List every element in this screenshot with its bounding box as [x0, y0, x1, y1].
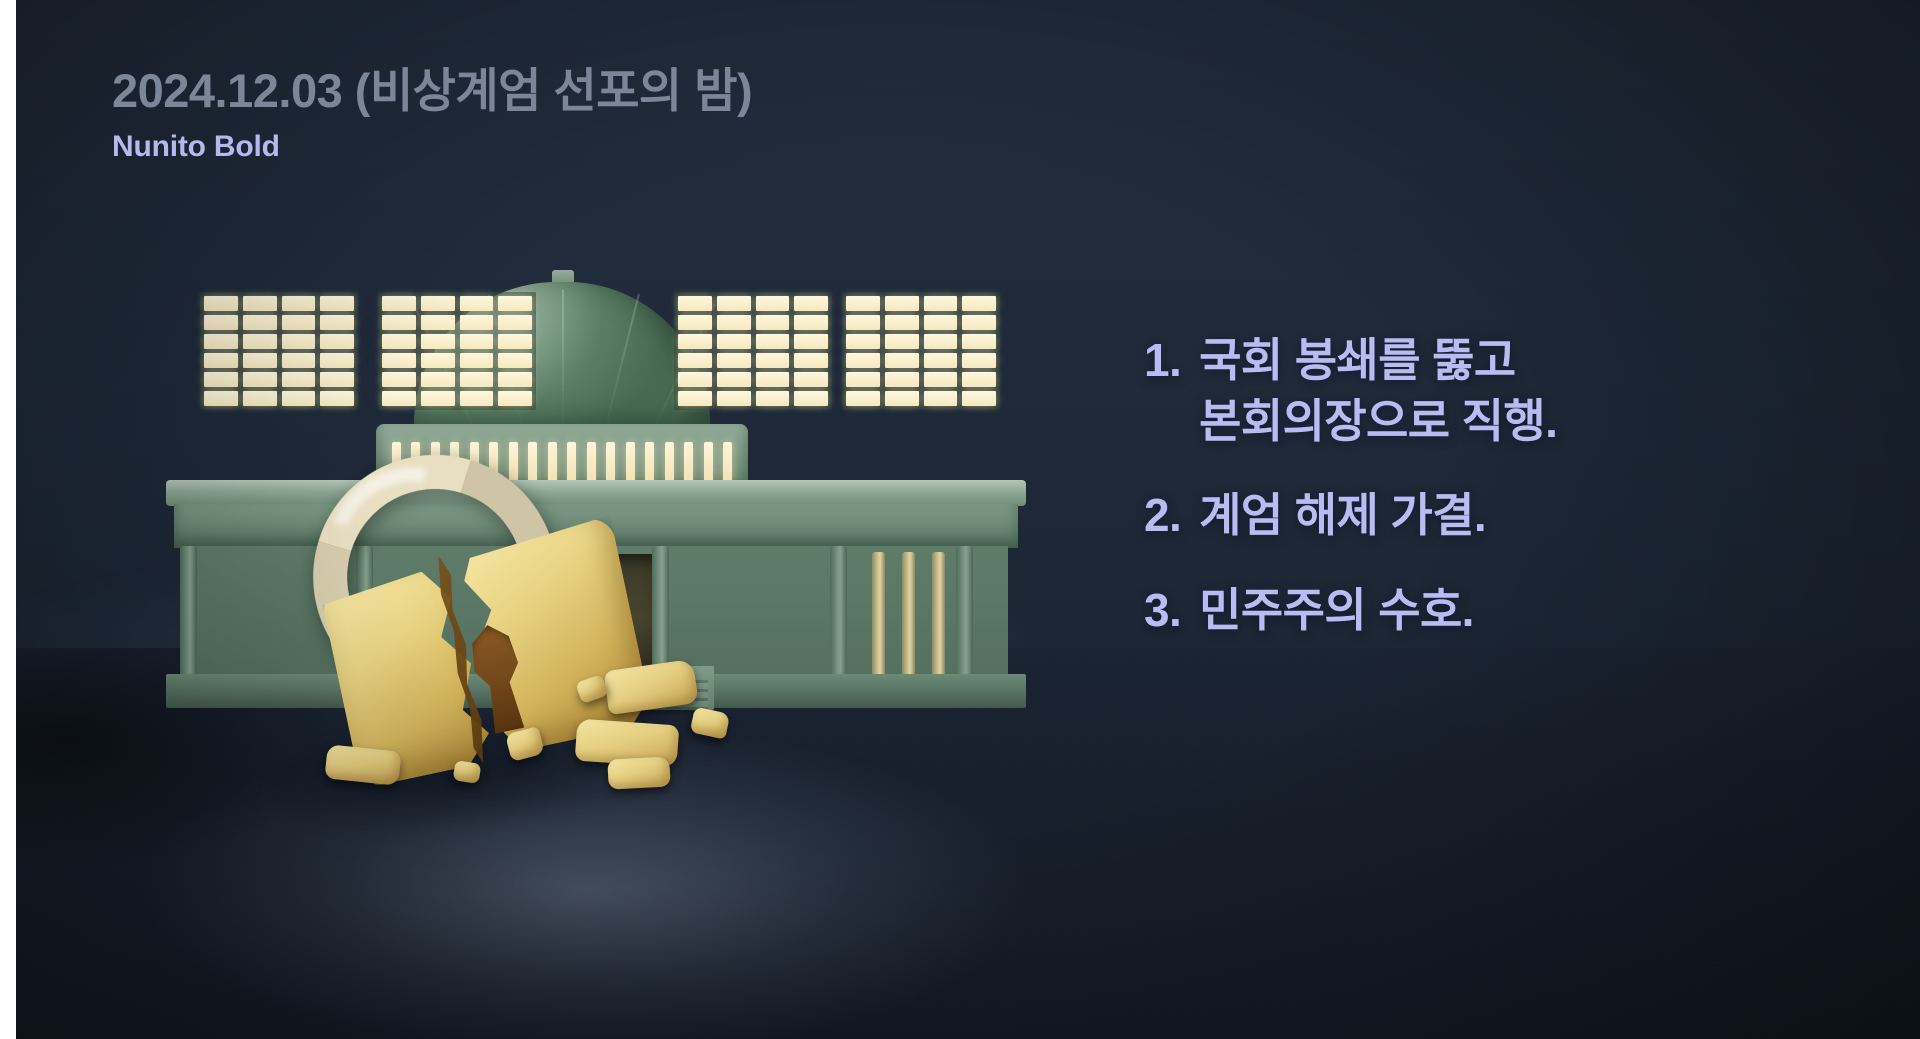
padlock-debris-chunk — [607, 756, 670, 789]
list-item: 3. 민주주의 수호. — [1144, 580, 1884, 641]
column — [956, 546, 973, 678]
numbered-points-list: 1. 국회 봉쇄를 뚫고 본회의장으로 직행. 2. 계엄 해제 가결. 3. … — [1144, 330, 1884, 675]
inner-pillar — [932, 552, 945, 678]
list-item-number: 2. — [1144, 485, 1181, 546]
window-bank-midleft — [378, 292, 536, 410]
list-item-number: 3. — [1144, 580, 1181, 641]
page-title: 2024.12.03 (비상계엄 선포의 밤) — [112, 62, 752, 119]
column — [180, 546, 197, 678]
padlock-debris-chunk — [453, 760, 482, 784]
list-item-text: 계엄 해제 가결. — [1199, 485, 1884, 546]
list-item: 2. 계엄 해제 가결. — [1144, 485, 1884, 546]
page-subtitle: Nunito Bold — [112, 129, 752, 165]
column — [830, 546, 847, 678]
list-item-text: 국회 봉쇄를 뚫고 본회의장으로 직행. — [1199, 330, 1884, 451]
slide-frame: 2024.12.03 (비상계엄 선포의 밤) Nunito Bold 1. 국… — [0, 0, 1920, 1039]
list-item-number: 1. — [1144, 330, 1181, 391]
window-bank-right — [842, 292, 1000, 410]
inner-pillar — [902, 552, 915, 678]
list-item: 1. 국회 봉쇄를 뚫고 본회의장으로 직행. — [1144, 330, 1884, 451]
window-bank-midright — [674, 292, 832, 410]
window-bank-left — [200, 292, 358, 410]
title-block: 2024.12.03 (비상계엄 선포의 밤) Nunito Bold — [112, 62, 752, 165]
presentation-slide: 2024.12.03 (비상계엄 선포의 밤) Nunito Bold 1. 국… — [16, 0, 1920, 1039]
inner-pillar — [872, 552, 885, 678]
list-item-text: 민주주의 수호. — [1199, 580, 1884, 641]
